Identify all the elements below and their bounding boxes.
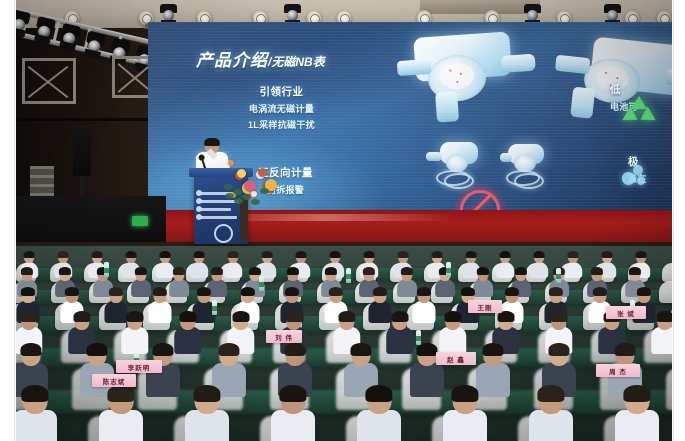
slide-title: 产品介绍/无磁NB表 <box>196 46 325 71</box>
water-bottle <box>346 268 351 283</box>
flower <box>251 191 257 197</box>
audience-hair <box>193 385 220 402</box>
flower <box>228 160 234 166</box>
foliage <box>260 188 269 194</box>
audience-hair <box>550 311 567 322</box>
audience-torso <box>271 410 315 441</box>
audience-torso <box>121 327 149 354</box>
foliage <box>251 199 260 205</box>
audience-hair <box>505 287 519 296</box>
audience-hair <box>329 287 343 296</box>
audience-hair <box>287 267 299 275</box>
feature-heading: 引领行业 <box>248 84 315 99</box>
audience-member <box>497 252 513 278</box>
audience-torso <box>386 327 414 354</box>
audience-hair <box>614 343 635 356</box>
audience-member <box>414 288 435 324</box>
pa-speaker <box>73 128 91 176</box>
audience-member <box>445 386 485 441</box>
audience-hair <box>218 343 239 356</box>
foliage <box>234 198 243 204</box>
audience-torso <box>224 262 242 278</box>
audience-hair <box>365 385 392 402</box>
audience-hair <box>86 343 107 356</box>
audience-torso <box>529 410 573 441</box>
audience-hair <box>285 311 302 322</box>
audience-hair <box>373 287 387 296</box>
water-bottle <box>212 300 217 315</box>
exit-sign <box>132 216 148 226</box>
water-bottle <box>446 262 451 277</box>
audience-hair <box>65 287 79 296</box>
audience-hair <box>568 251 579 258</box>
audience-member <box>652 312 672 356</box>
water-bottle <box>416 330 421 345</box>
audience-hair <box>284 343 305 356</box>
podium-text-line <box>201 208 231 211</box>
audience-hair <box>296 251 307 258</box>
audience-hair <box>153 287 167 296</box>
water-bottle <box>259 276 264 291</box>
audience-hair <box>20 343 41 356</box>
placard-text: 李跃明 <box>128 362 151 372</box>
audience-hair <box>59 267 71 275</box>
audience-torso <box>530 262 548 278</box>
audience-member <box>387 312 412 356</box>
foliage <box>233 189 242 195</box>
foliage <box>224 184 233 190</box>
placard-text: 周 杰 <box>609 366 627 376</box>
audience-hair <box>194 251 205 258</box>
truss-moving-light <box>83 30 106 59</box>
audience-hair <box>548 343 569 356</box>
audience-hair <box>444 311 461 322</box>
audience-member <box>16 386 55 441</box>
audience-member <box>531 386 571 441</box>
audience-hair <box>338 311 355 322</box>
audience-torso <box>651 327 672 354</box>
placard-text: 刘 伟 <box>275 332 293 342</box>
audience-member <box>273 386 313 441</box>
placard-text: 陈志斌 <box>103 376 126 386</box>
audience-hair <box>350 343 371 356</box>
audience-hair <box>417 287 431 296</box>
side-truss-frame <box>22 58 76 104</box>
truss-moving-light <box>16 9 31 38</box>
truss-moving-light <box>58 23 81 52</box>
audience-hair <box>126 251 137 258</box>
audience-member <box>225 252 241 278</box>
audience-hair <box>135 267 147 275</box>
truss-moving-light <box>33 16 56 45</box>
audience-hair <box>107 385 134 402</box>
audience-torso <box>443 410 487 441</box>
audience-hair <box>330 251 341 258</box>
audience-hair <box>109 287 123 296</box>
audience-hair <box>401 267 413 275</box>
audience-hair <box>173 267 185 275</box>
podium-text-line <box>201 216 237 219</box>
name-placard: 赵 鑫 <box>436 352 476 365</box>
audience-torso <box>16 410 57 441</box>
audience-member <box>440 312 465 356</box>
audience-hair <box>241 287 255 296</box>
recycle-icon <box>624 96 654 124</box>
audience-torso <box>357 410 401 441</box>
flower-stand <box>240 198 248 240</box>
foliage <box>242 194 251 200</box>
audience-hair <box>58 251 69 258</box>
audience-member <box>359 386 399 441</box>
slide-title-main: 产品介绍 <box>196 51 268 70</box>
audience-hair <box>279 385 306 402</box>
audience-member <box>101 386 141 441</box>
podium-emblem <box>214 224 233 243</box>
audience-hair <box>466 251 477 258</box>
audience-hair <box>391 311 408 322</box>
audience-member <box>187 386 227 441</box>
audience-member <box>170 268 188 298</box>
flower <box>237 169 246 178</box>
audience-hair <box>262 251 273 258</box>
audience-hair <box>477 267 489 275</box>
name-placard: 王刚 <box>468 300 502 313</box>
audience-hair <box>636 251 647 258</box>
audience-chair <box>659 281 672 304</box>
audience-hair <box>24 251 35 258</box>
audience-hair <box>461 287 475 296</box>
feature-line: 1L采样抗磁干扰 <box>248 118 315 131</box>
audience-torso <box>439 327 467 354</box>
audience-hair <box>515 267 527 275</box>
wall-seam <box>16 118 166 121</box>
audience-hair <box>451 385 478 402</box>
audience-hair <box>602 251 613 258</box>
ceiling-beam <box>420 0 540 14</box>
water-bottle <box>556 268 561 283</box>
feature-heading: 低 <box>610 82 638 97</box>
water-bottle <box>104 262 109 277</box>
audience-chair <box>662 263 672 283</box>
audience-hair <box>364 251 375 258</box>
audience-hair <box>637 287 651 296</box>
audience-torso <box>412 301 435 323</box>
audience-hair <box>73 311 90 322</box>
audience-hair <box>629 267 641 275</box>
audience-hair <box>92 251 103 258</box>
conference-photo: 产品介绍/无磁NB表 引领行业 电涡流无磁计量 1L采样抗磁干扰 正反向计量 防… <box>16 0 672 441</box>
presenter-hair <box>204 138 220 146</box>
audience-member <box>150 288 171 324</box>
floral-arrangement <box>224 158 270 202</box>
audience-hair <box>285 287 299 296</box>
audience-member <box>191 252 207 278</box>
audience-torso <box>99 410 143 441</box>
audience-member <box>132 268 150 298</box>
bubble-icon <box>620 164 650 190</box>
frame-left-edge <box>14 0 15 441</box>
audience-torso <box>615 410 659 441</box>
audience-hair <box>363 267 375 275</box>
foliage <box>225 193 234 199</box>
audience-hair <box>623 385 650 402</box>
audience-torso <box>435 279 455 298</box>
audience-hair <box>500 251 511 258</box>
audience-member <box>122 312 147 356</box>
audience-member <box>175 312 200 356</box>
audience-hair <box>656 311 672 322</box>
audience-hair <box>591 267 603 275</box>
audience-hair <box>211 267 223 275</box>
feature-line: 电涡流无磁计量 <box>248 102 315 115</box>
audience-hair <box>593 287 607 296</box>
audience-hair <box>160 251 171 258</box>
audience-hair <box>21 267 33 275</box>
placard-text: 王刚 <box>478 302 493 312</box>
audience-torso <box>131 279 151 298</box>
flower <box>258 168 267 177</box>
audience-hair <box>549 287 563 296</box>
audience-member <box>436 268 454 298</box>
slide-title-sub: 无磁NB表 <box>271 55 324 69</box>
placard-text: 张 斌 <box>617 308 635 318</box>
audience-hair <box>21 385 48 402</box>
name-placard: 李跃明 <box>116 360 162 373</box>
slide-feature-block-1: 引领行业 电涡流无磁计量 1L采样抗磁干扰 <box>248 84 315 131</box>
frame-right-edge <box>673 0 674 441</box>
audience-hair <box>20 311 37 322</box>
placard-text: 赵 鑫 <box>447 354 465 364</box>
audience-torso <box>190 262 208 278</box>
audience-hair <box>537 385 564 402</box>
photo-frame: 产品介绍/无磁NB表 引领行业 电涡流无磁计量 1L采样抗磁干扰 正反向计量 防… <box>0 0 685 441</box>
name-placard: 陈志斌 <box>92 374 136 387</box>
audience-hair <box>432 251 443 258</box>
audience-hair <box>534 251 545 258</box>
name-placard: 周 杰 <box>596 364 640 377</box>
audience-hair <box>126 311 143 322</box>
audience-hair <box>249 267 261 275</box>
audience-hair <box>152 343 173 356</box>
audience-hair <box>482 343 503 356</box>
audience-chair <box>666 368 672 410</box>
name-placard: 刘 伟 <box>266 330 302 343</box>
audience-torso <box>410 363 444 398</box>
audience-hair <box>228 251 239 258</box>
audience-hair <box>232 311 249 322</box>
audience-hair <box>179 311 196 322</box>
audience-member <box>617 386 657 441</box>
audience-member <box>531 252 547 278</box>
name-placard: 张 斌 <box>606 306 646 319</box>
audience-hair <box>197 287 211 296</box>
audience-hair <box>21 287 35 296</box>
audience-torso <box>185 410 229 441</box>
audience-hair <box>325 267 337 275</box>
audience-torso <box>148 301 171 323</box>
audience-hair <box>398 251 409 258</box>
audience-torso <box>169 279 189 298</box>
